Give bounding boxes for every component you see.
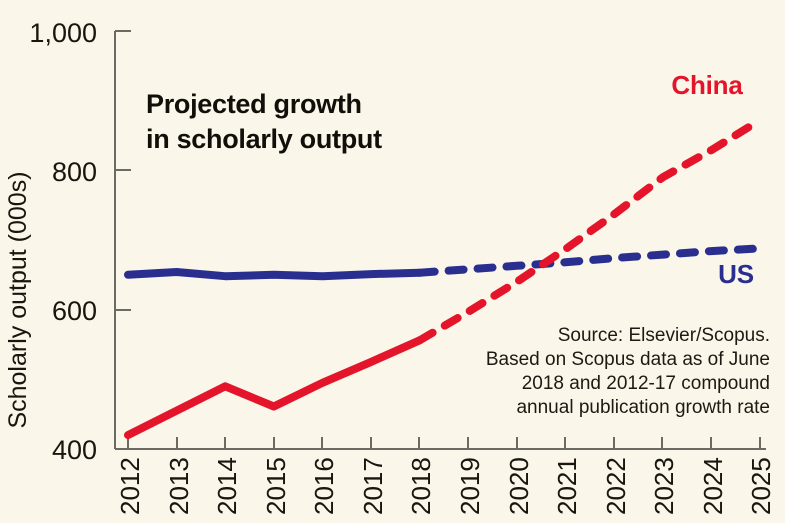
chart-title-line2: in scholarly output: [146, 124, 382, 154]
x-tick-label-2013: 2013: [164, 457, 194, 515]
source-note-line-4: annual publication growth rate: [516, 397, 770, 418]
chart-title-line1: Projected growth: [146, 89, 362, 119]
y-tick-label-1000: 1,000: [29, 18, 97, 48]
x-tick-label-2014: 2014: [212, 457, 242, 515]
x-tick-label-2021: 2021: [552, 457, 582, 515]
x-tick-label-2015: 2015: [261, 457, 291, 515]
x-tick-label-2025: 2025: [746, 457, 776, 515]
y-tick-label-400: 400: [52, 435, 97, 465]
x-tick-label-2018: 2018: [406, 457, 436, 515]
x-tick-label-2022: 2022: [601, 457, 631, 515]
x-tick-label-2024: 2024: [698, 457, 728, 515]
x-tick-label-2017: 2017: [358, 457, 388, 515]
x-tick-label-2019: 2019: [455, 457, 485, 515]
y-tick-label-600: 600: [52, 296, 97, 326]
chart-background: [0, 0, 785, 523]
scholarly-output-line-chart: Scholarly output (000s) 1,000 800 600 40…: [0, 0, 785, 523]
x-tick-label-2023: 2023: [649, 457, 679, 515]
source-note-line-3: 2018 and 2012-17 compound: [522, 373, 770, 394]
source-note-line-1: Source: Elsevier/Scopus.: [558, 325, 770, 346]
y-tick-label-800: 800: [52, 157, 97, 187]
x-tick-label-2020: 2020: [504, 457, 534, 515]
x-tick-label-2016: 2016: [309, 457, 339, 515]
source-note-line-2: Based on Scopus data as of June: [486, 349, 770, 370]
y-axis-label: Scholarly output (000s): [4, 171, 32, 428]
x-tick-label-2012: 2012: [115, 457, 145, 515]
us-solid-line: [128, 272, 420, 276]
series-label-us: US: [718, 259, 754, 289]
series-label-china: China: [671, 70, 743, 100]
